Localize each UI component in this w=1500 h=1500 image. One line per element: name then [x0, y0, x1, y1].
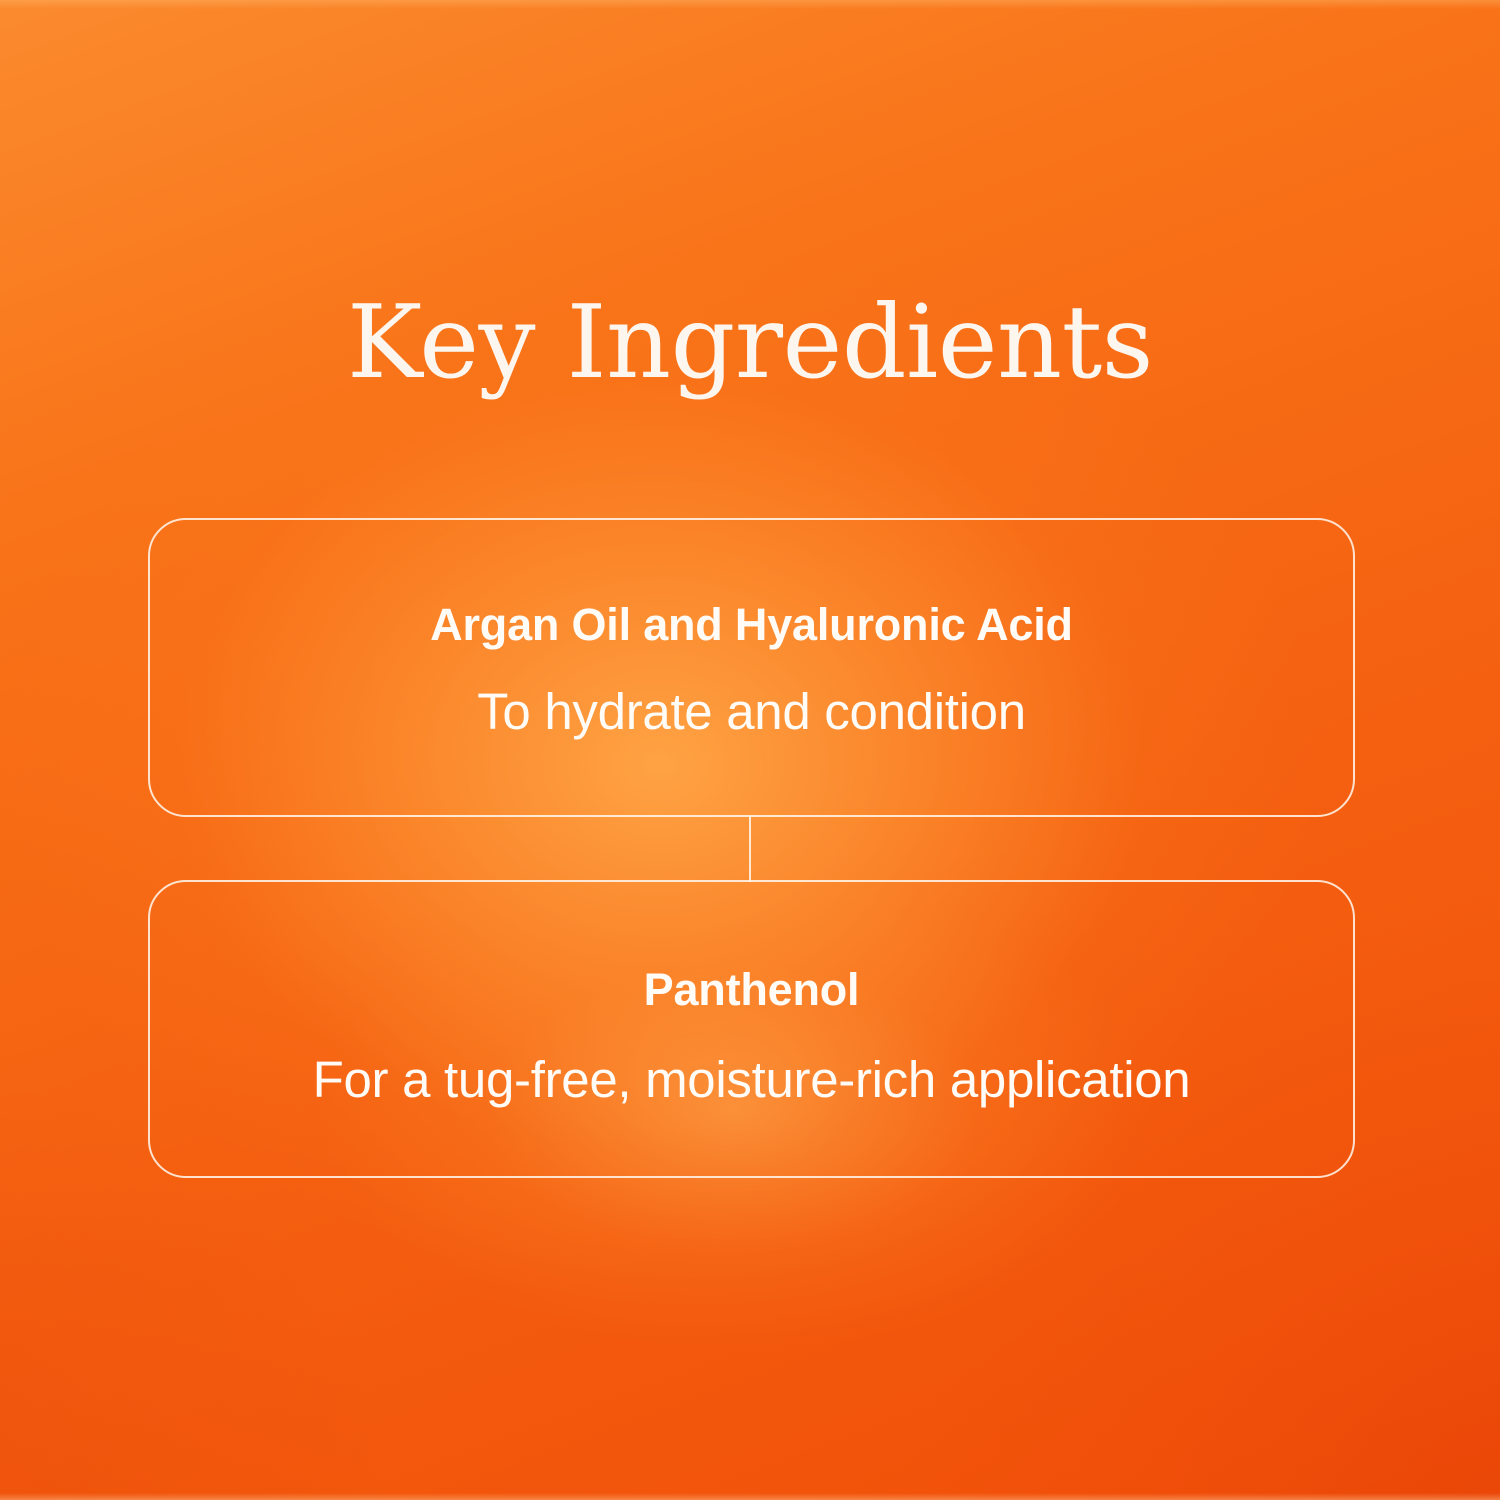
key-ingredients-graphic: Key Ingredients Argan Oil and Hyaluronic… [0, 0, 1500, 1500]
ingredient-card-panthenol: Panthenol For a tug-free, moisture-rich … [148, 880, 1355, 1178]
ingredient-card-argan-oil-and-hyaluronic-acid: Argan Oil and Hyaluronic Acid To hydrate… [148, 518, 1355, 817]
ingredient-card-subtext: To hydrate and condition [477, 686, 1026, 737]
vertical-connector-line [749, 816, 751, 882]
ingredient-card-subtext: For a tug-free, moisture-rich applicatio… [313, 1054, 1191, 1105]
ingredient-card-heading: Argan Oil and Hyaluronic Acid [430, 602, 1073, 647]
page-title: Key Ingredients [0, 292, 1500, 393]
ingredient-card-heading: Panthenol [644, 967, 860, 1012]
